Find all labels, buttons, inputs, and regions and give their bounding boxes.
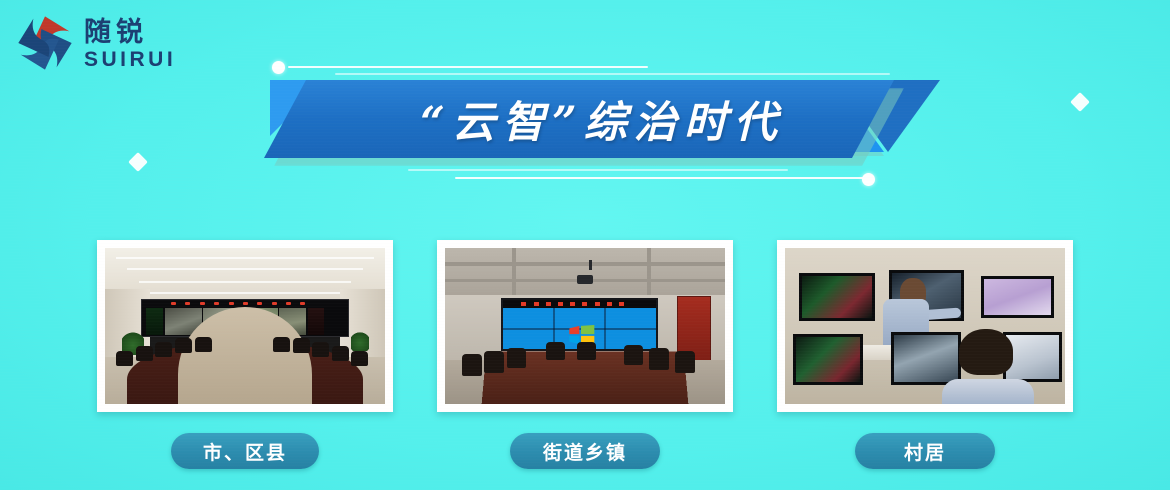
wall-monitor: [799, 273, 875, 321]
card-row: 市、区县: [0, 240, 1170, 469]
photo-village: [785, 248, 1065, 404]
brand-name-en: SUIRUI: [84, 49, 176, 70]
decor-dot-bottom-right: [862, 173, 875, 186]
card-village[interactable]: 村居: [777, 240, 1073, 469]
card-label-village[interactable]: 村居: [855, 433, 995, 469]
photo-frame: [777, 240, 1073, 412]
card-label-city-district[interactable]: 市、区县: [171, 433, 319, 469]
page-title: “云智”综治时代: [322, 80, 882, 158]
suirui-pinwheel-logo-icon: [16, 14, 74, 72]
photo-city-district: [105, 248, 385, 404]
photo-street-township: [445, 248, 725, 404]
brand-name-cn: 随锐: [84, 19, 176, 46]
decor-diamond-left: [128, 152, 148, 172]
photo-frame: [97, 240, 393, 412]
brand-logo-text: 随锐 SUIRUI: [84, 17, 176, 70]
decor-line-top-2: [335, 73, 890, 75]
decor-diamond-right: [1070, 92, 1090, 112]
card-street-township[interactable]: 街道乡镇: [437, 240, 733, 469]
desk-monitor: [891, 332, 961, 385]
decor-line-bottom-1: [455, 177, 867, 179]
wall-monitor: [981, 276, 1054, 318]
photo-frame: [437, 240, 733, 412]
decor-line-top-1: [288, 66, 648, 68]
title-banner: “云智”综治时代: [262, 78, 962, 168]
decor-dot-top-left: [272, 61, 285, 74]
card-label-street-township[interactable]: 街道乡镇: [510, 433, 660, 469]
desk-monitor: [793, 334, 863, 385]
card-city-district[interactable]: 市、区县: [97, 240, 393, 469]
brand-logo[interactable]: 随锐 SUIRUI: [16, 14, 176, 72]
decor-line-bottom-2: [408, 169, 788, 171]
slide-root: 随锐 SUIRUI “云智”综治时代: [0, 0, 1170, 490]
